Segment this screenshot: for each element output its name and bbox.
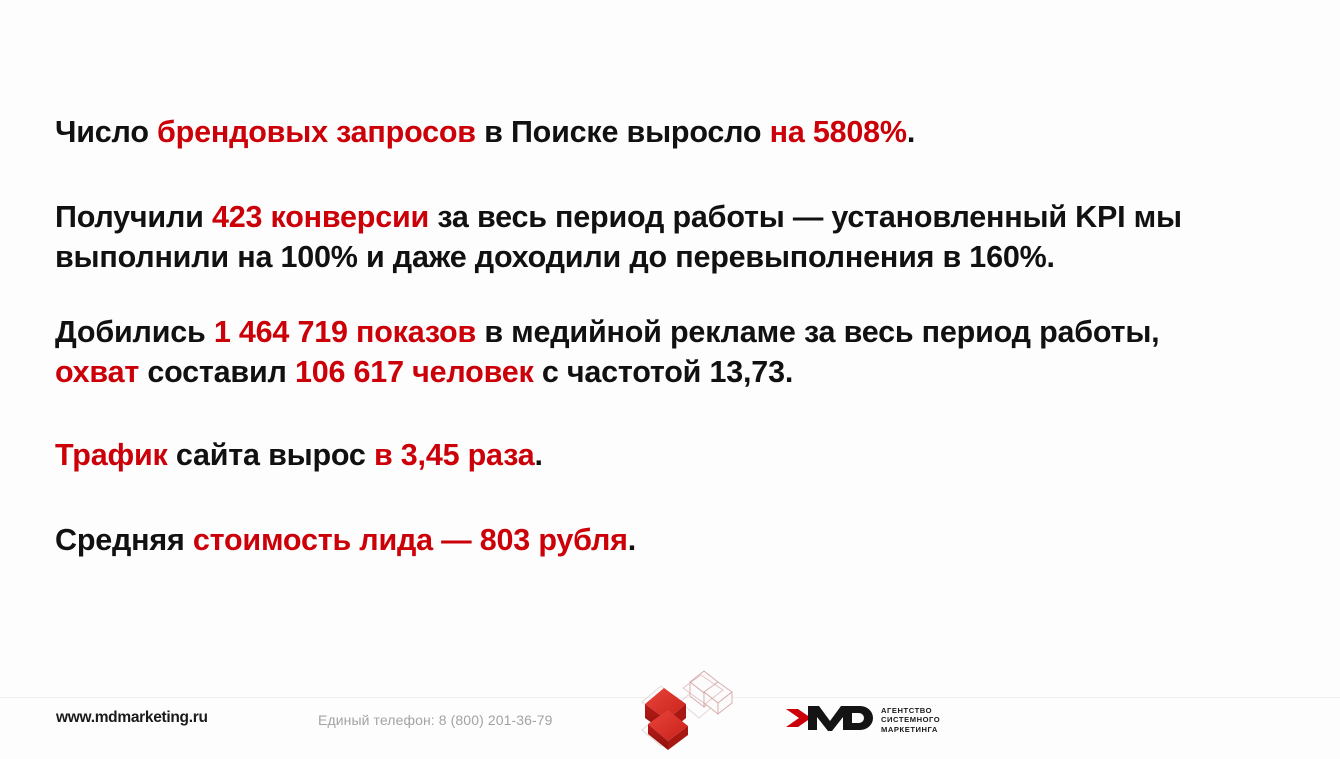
text-segment-highlight: Трафик xyxy=(55,438,168,472)
results-summary-list: Число брендовых запросов в Поиске выросл… xyxy=(55,112,1215,560)
text-segment-plain: в Поиске выросло xyxy=(476,115,770,149)
text-segment-plain: . xyxy=(628,523,636,557)
text-segment-plain: . xyxy=(907,115,915,149)
logo-tagline-line-1: АГЕНТСТВО xyxy=(881,706,932,715)
text-segment-highlight: 106 617 человек xyxy=(295,355,534,389)
logo-tagline-line-3: МАРКЕТИНГА xyxy=(881,725,938,734)
text-segment-plain: сайта вырос xyxy=(168,438,374,472)
text-segment-plain: Число xyxy=(55,115,157,149)
footer-website: www.mdmarketing.ru xyxy=(56,709,208,727)
text-segment-plain: Получили xyxy=(55,200,212,234)
text-segment-highlight: на 5808% xyxy=(770,115,907,149)
text-segment-plain: в медийной рекламе за весь период работы… xyxy=(476,315,1159,349)
text-segment-plain: Средняя xyxy=(55,523,193,557)
paragraph-traffic-growth: Трафик сайта вырос в 3,45 раза. xyxy=(55,435,1215,475)
text-segment-highlight: в 3,45 раза xyxy=(374,438,535,472)
footer-phone: Единый телефон: 8 (800) 201-36-79 xyxy=(318,712,553,728)
text-segment-plain: составил xyxy=(139,355,295,389)
md-logo-mark-icon xyxy=(786,703,874,738)
paragraph-conversions-kpi: Получили 423 конверсии за весь период ра… xyxy=(55,197,1215,277)
text-segment-highlight: охват xyxy=(55,355,139,389)
paragraph-impressions-reach: Добились 1 464 719 показов в медийной ре… xyxy=(55,312,1215,392)
text-segment-highlight: 1 464 719 показов xyxy=(214,315,476,349)
md-logo-tagline: АГЕНТСТВО СИСТЕМНОГО МАРКЕТИНГА xyxy=(881,706,940,735)
text-segment-highlight: стоимость лида — 803 рубля xyxy=(193,523,628,557)
paragraph-lead-cost: Средняя стоимость лида — 803 рубля. xyxy=(55,520,1215,560)
text-segment-highlight: 423 конверсии xyxy=(212,200,429,234)
text-segment-plain: с частотой 13,73. xyxy=(534,355,794,389)
chevron-cubes-decoration xyxy=(628,662,746,754)
logo-tagline-line-2: СИСТЕМНОГО xyxy=(881,715,940,724)
paragraph-brand-queries: Число брендовых запросов в Поиске выросл… xyxy=(55,112,1215,152)
text-segment-plain: Добились xyxy=(55,315,214,349)
slide-canvas: Число брендовых запросов в Поиске выросл… xyxy=(0,0,1340,754)
text-segment-plain: . xyxy=(535,438,543,472)
text-segment-highlight: брендовых запросов xyxy=(157,115,476,149)
md-logo: АГЕНТСТВО СИСТЕМНОГО МАРКЕТИНГА xyxy=(786,701,926,739)
